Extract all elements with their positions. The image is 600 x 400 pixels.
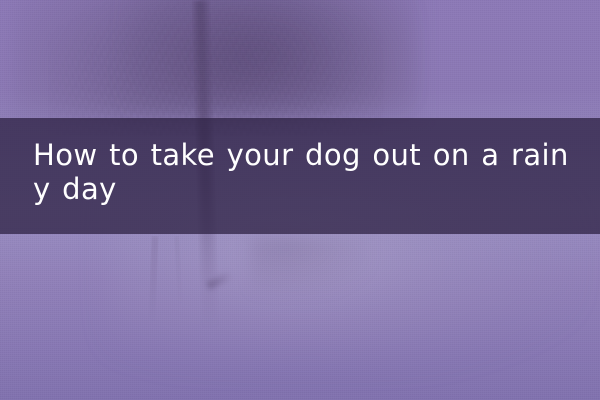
banner-title: How to take your dog out on a rainy day: [0, 118, 600, 206]
title-overlay-band: How to take your dog out on a rainy day: [0, 118, 600, 234]
banner-image: How to take your dog out on a rainy day: [0, 0, 600, 400]
